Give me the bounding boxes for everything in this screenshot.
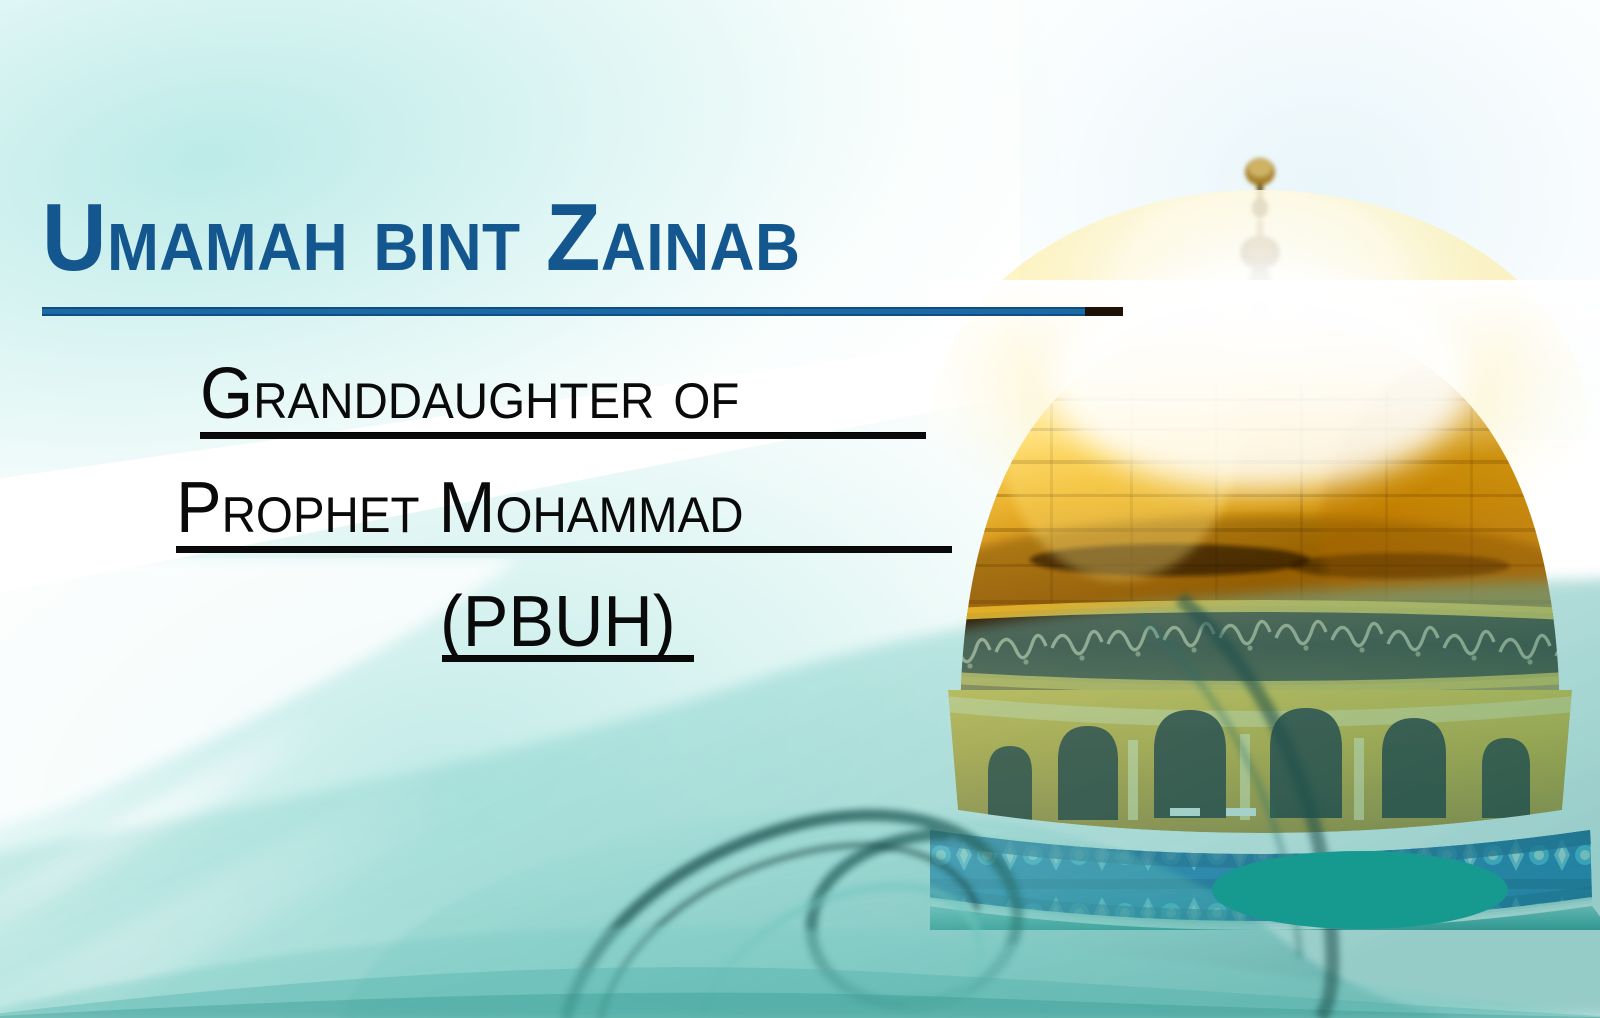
subtitle-line-2: Prophet Mohammad: [176, 472, 744, 544]
calligraphy-band: [930, 600, 1600, 693]
arched-windows: [988, 708, 1530, 820]
teal-wash-bottom: [0, 367, 1309, 1018]
highlight-streak: [0, 752, 479, 1018]
title-underline-dark-cap: [1085, 307, 1123, 316]
subtitle-underline-3: [442, 655, 694, 662]
teal-ellipse-accent: [1150, 820, 1570, 960]
subtitle-line-3: (PBUH): [440, 586, 676, 658]
subtitle-underline-1: [200, 432, 926, 439]
subtitle-line-1: Granddaughter of: [200, 358, 739, 430]
page-title: Umamah bint Zainab: [42, 190, 1046, 286]
highlight-streak-secondary: [0, 706, 334, 995]
title-underline-blue: [42, 307, 1085, 316]
subtitle-underline-2: [176, 546, 952, 553]
presentation-slide: Umamah bint Zainab Granddaughter of Prop…: [0, 0, 1600, 1018]
dome-finial-icon: [1240, 158, 1280, 316]
dome-body: [930, 280, 1600, 730]
slide-title-row: Umamah bint Zainab: [42, 190, 1122, 286]
